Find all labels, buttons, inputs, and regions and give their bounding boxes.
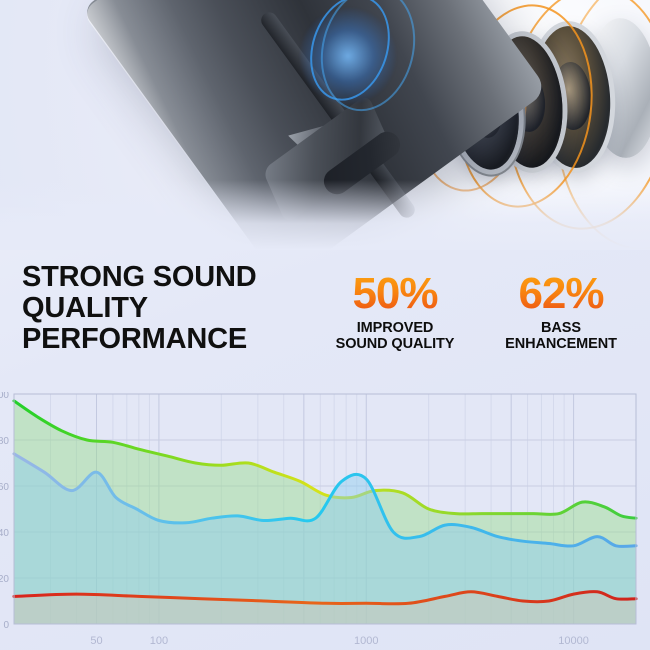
chart-ytick-label: 40 <box>0 528 9 539</box>
chart-ytick-label: 0 <box>3 620 9 631</box>
stat-label: IMPROVED SOUND QUALITY <box>330 320 460 352</box>
stat-bass-enhancement: 62% BASS ENHANCEMENT <box>496 272 626 352</box>
chart-xtick-label: 1000 <box>354 635 378 647</box>
chart-ytick-label: 20 <box>0 574 9 585</box>
stat-value: 50% <box>330 272 460 316</box>
stat-improved-sound-quality: 50% IMPROVED SOUND QUALITY <box>330 272 460 352</box>
chart-ytick-label: 100 <box>0 392 9 401</box>
product-infographic-page: STRONG SOUND QUALITY PERFORMANCE 50% IMP… <box>0 0 650 650</box>
hero-product-image <box>0 0 650 250</box>
frequency-response-chart: 02040608010050100100010000 <box>0 392 650 650</box>
headline-stats-section: STRONG SOUND QUALITY PERFORMANCE 50% IMP… <box>0 250 650 392</box>
chart-xtick-label: 10000 <box>558 635 589 647</box>
hero-bottom-fade <box>0 180 650 250</box>
chart-ytick-label: 60 <box>0 482 9 493</box>
chart-ytick-label: 80 <box>0 436 9 447</box>
page-title: STRONG SOUND QUALITY PERFORMANCE <box>22 262 322 355</box>
frequency-response-plot: 02040608010050100100010000 <box>0 392 650 650</box>
stat-value: 62% <box>496 272 626 316</box>
chart-xtick-label: 100 <box>150 635 168 647</box>
stats-group: 50% IMPROVED SOUND QUALITY 62% BASS ENHA… <box>330 272 640 352</box>
stat-label: BASS ENHANCEMENT <box>496 320 626 352</box>
chart-xtick-label: 50 <box>90 635 102 647</box>
